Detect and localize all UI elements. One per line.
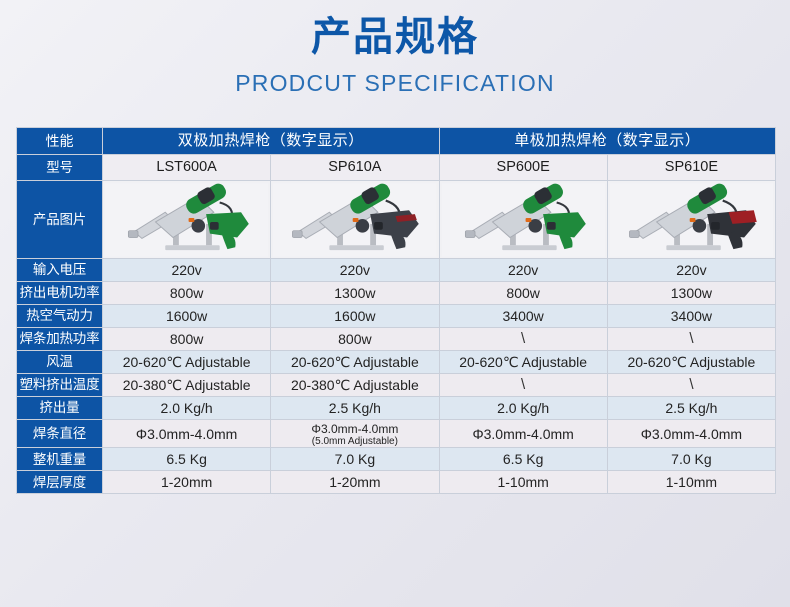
table-row: 焊条直径Φ3.0mm-4.0mmΦ3.0mm-4.0mm(5.0mm Adjus… [17,420,776,448]
table-row: 整机重量6.5 Kg7.0 Kg6.5 Kg7.0 Kg [17,448,776,471]
product-image-cell-2 [271,181,439,259]
extrusion-welding-gun-green-handle-icon [105,182,268,258]
product-image-cell-1 [103,181,271,259]
table-row-model: 型号 LST600A SP610A SP600E SP610E [17,155,776,181]
data-cell: 20-620℃ Adjustable [271,351,439,374]
data-cell: 2.0 Kg/h [439,397,607,420]
corner-label-cell: 性能 [17,128,103,155]
group-header-single-heating: 单极加热焊枪（数字显示） [439,128,776,155]
table-row: 输入电压220v220v220v220v [17,259,776,282]
table-row: 塑料挤出温度20-380℃ Adjustable20-380℃ Adjustab… [17,374,776,397]
table-row: 焊条加热功率800w800w\\ [17,328,776,351]
product-image-cell-3 [439,181,607,259]
data-cell: 6.5 Kg [439,448,607,471]
data-cell: 1600w [103,305,271,328]
data-cell: 1-10mm [607,471,775,494]
data-cell: Φ3.0mm-4.0mm(5.0mm Adjustable) [271,420,439,448]
row-label: 输入电压 [17,259,103,282]
data-cell-value: Φ3.0mm-4.0mm [311,422,398,436]
data-cell: \ [607,374,775,397]
row-label-product-image: 产品图片 [17,181,103,259]
model-cell-1: LST600A [103,155,271,181]
data-cell: \ [439,374,607,397]
table-row-group-header: 性能 双极加热焊枪（数字显示） 单极加热焊枪（数字显示） [17,128,776,155]
data-cell: 220v [607,259,775,282]
data-cell: 20-620℃ Adjustable [103,351,271,374]
data-cell: 800w [103,328,271,351]
data-cell: 3400w [439,305,607,328]
group-header-dual-heating: 双极加热焊枪（数字显示） [103,128,440,155]
table-row: 热空气动力1600w1600w3400w3400w [17,305,776,328]
data-cell: \ [439,328,607,351]
data-cell: 220v [439,259,607,282]
row-label: 挤出电机功率 [17,282,103,305]
row-label: 塑料挤出温度 [17,374,103,397]
data-cell: 3400w [607,305,775,328]
data-cell: 800w [439,282,607,305]
data-cell: 7.0 Kg [271,448,439,471]
data-cell: 220v [103,259,271,282]
data-cell: 1-20mm [103,471,271,494]
product-specification-page: 产品规格 PRODCUT SPECIFICATION 性能 双极加热焊枪（数字显… [0,0,790,607]
model-cell-2: SP610A [271,155,439,181]
model-cell-3: SP600E [439,155,607,181]
row-label: 整机重量 [17,448,103,471]
data-cell: 1300w [607,282,775,305]
data-cell: 20-380℃ Adjustable [103,374,271,397]
page-title: 产品规格 [0,14,790,60]
data-cell: 800w [271,328,439,351]
row-label: 焊条加热功率 [17,328,103,351]
table-row: 风温20-620℃ Adjustable20-620℃ Adjustable20… [17,351,776,374]
row-label: 焊层厚度 [17,471,103,494]
data-cell: 7.0 Kg [607,448,775,471]
data-cell: 6.5 Kg [103,448,271,471]
model-cell-4: SP610E [607,155,775,181]
table-body: 性能 双极加热焊枪（数字显示） 单极加热焊枪（数字显示） 型号 LST600A … [17,128,776,494]
data-cell: 1-10mm [439,471,607,494]
data-cell: 800w [103,282,271,305]
row-label: 焊条直径 [17,420,103,448]
data-cell: 220v [271,259,439,282]
data-cell: 1600w [271,305,439,328]
specification-table: 性能 双极加热焊枪（数字显示） 单极加热焊枪（数字显示） 型号 LST600A … [16,127,776,494]
table-row: 挤出电机功率800w1300w800w1300w [17,282,776,305]
row-label: 风温 [17,351,103,374]
data-cell: 1300w [271,282,439,305]
spec-table-wrapper: 性能 双极加热焊枪（数字显示） 单极加热焊枪（数字显示） 型号 LST600A … [16,127,775,494]
extrusion-welding-gun-red-drill-icon [610,182,773,258]
data-cell: 2.0 Kg/h [103,397,271,420]
extrusion-welding-gun-dark-drill-icon [273,182,436,258]
table-row: 焊层厚度1-20mm1-20mm1-10mm1-10mm [17,471,776,494]
row-label: 挤出量 [17,397,103,420]
data-cell: Φ3.0mm-4.0mm [103,420,271,448]
data-cell: 1-20mm [271,471,439,494]
data-cell: Φ3.0mm-4.0mm [439,420,607,448]
title-block: 产品规格 PRODCUT SPECIFICATION [0,0,790,97]
data-cell: 2.5 Kg/h [271,397,439,420]
data-cell-subvalue: (5.0mm Adjustable) [273,436,436,448]
data-cell: 2.5 Kg/h [607,397,775,420]
row-label: 热空气动力 [17,305,103,328]
table-row-product-image: 产品图片 [17,181,776,259]
table-row: 挤出量2.0 Kg/h2.5 Kg/h2.0 Kg/h2.5 Kg/h [17,397,776,420]
row-label-model: 型号 [17,155,103,181]
data-cell: 20-620℃ Adjustable [607,351,775,374]
data-cell: Φ3.0mm-4.0mm [607,420,775,448]
data-cell: 20-380℃ Adjustable [271,374,439,397]
page-subtitle: PRODCUT SPECIFICATION [0,70,790,97]
data-cell: \ [607,328,775,351]
product-image-cell-4 [607,181,775,259]
extrusion-welding-gun-green-handle-icon-2 [442,182,605,258]
data-cell: 20-620℃ Adjustable [439,351,607,374]
